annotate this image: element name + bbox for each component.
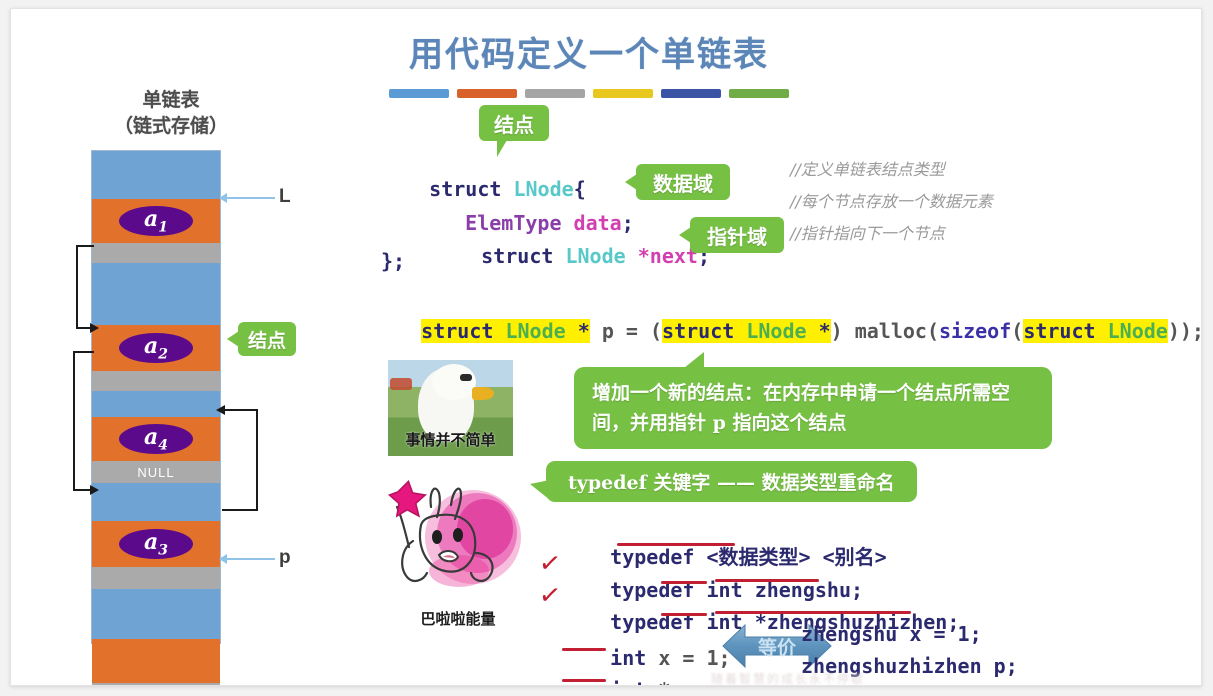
callout-node-diagram: 结点 xyxy=(238,322,296,356)
memory-block-data-a3: a3 xyxy=(92,521,220,567)
memory-block-pointer-a3 xyxy=(92,567,220,589)
node-label-a2: a2 xyxy=(144,335,168,361)
page-title: 用代码定义一个单链表 xyxy=(409,27,769,76)
memory-block-data-a1: a1 xyxy=(92,199,220,243)
callout-node-diagram-label: 结点 xyxy=(248,326,286,353)
memory-block-empty xyxy=(92,391,220,417)
red-check-2: ✓ xyxy=(537,580,563,613)
callout-data-field: 数据域 xyxy=(636,164,730,200)
node-label-a3: a3 xyxy=(144,531,168,557)
space xyxy=(1096,319,1108,343)
red-check-1: ✓ xyxy=(537,548,563,581)
callout-tail xyxy=(530,480,550,500)
code-comment-2: //每个节点存放一个数据元素 xyxy=(790,188,993,212)
callout-tail xyxy=(227,331,239,347)
slide-canvas: 用代码定义一个单链表 单链表 （链式存储） a1 a2 a4 xyxy=(10,8,1202,686)
node-value-ellipse: a2 xyxy=(119,333,193,363)
duck-meme-image: 事情并不简单 xyxy=(388,360,513,456)
node-index-3: 3 xyxy=(158,542,168,558)
callout-node-code-label: 结点 xyxy=(494,109,534,138)
node-label-a1: a1 xyxy=(144,208,168,234)
malloc-close: ) malloc( xyxy=(831,319,939,343)
keyword-struct: struct xyxy=(481,244,553,268)
memory-block-pointer-a1 xyxy=(92,243,220,263)
memory-block-empty xyxy=(92,483,220,521)
link-arrow-a3-head xyxy=(216,405,225,415)
p-pointer-line xyxy=(227,558,275,560)
space xyxy=(493,319,505,343)
red-underline-datatype xyxy=(617,543,735,546)
memory-block-new-pointer xyxy=(92,683,220,686)
space xyxy=(626,244,638,268)
red-underline-int-3 xyxy=(562,648,606,651)
diagram-heading-line1: 单链表 xyxy=(96,87,246,113)
code-malloc-line: struct LNode * p = (struct LNode *) mall… xyxy=(373,295,1202,367)
malloc-tail: )); xyxy=(1168,319,1202,343)
p-pointer-label: p xyxy=(279,547,291,569)
red-underline-alias-2 xyxy=(715,611,911,614)
callout-typedef-note: typedef 关键字 —— 数据类型重命名 xyxy=(546,461,917,502)
null-pointer-label: NULL xyxy=(92,461,220,483)
link-arrow-a1-top xyxy=(76,245,94,247)
node-label-a4: a4 xyxy=(144,426,168,452)
link-arrow-a3-vert xyxy=(256,409,258,511)
callout-typedef-note-label: typedef 关键字 —— 数据类型重命名 xyxy=(568,472,895,494)
node-index-2: 2 xyxy=(158,346,168,362)
title-bar-3 xyxy=(525,89,585,98)
title-bar-6 xyxy=(729,89,789,98)
memory-block-new-node xyxy=(92,639,220,683)
equiv-left-rest-2: *p; xyxy=(646,678,694,686)
callout-tail xyxy=(678,352,704,368)
memory-block-pointer-a2 xyxy=(92,371,220,391)
code-comment-3: //指针指向下一个节点 xyxy=(790,220,945,244)
type-lnode: LNode xyxy=(1108,319,1168,343)
keyword-struct: struct xyxy=(1023,319,1095,343)
duck-beak xyxy=(472,387,494,400)
head-pointer-line xyxy=(227,197,275,199)
link-arrow-a2-top xyxy=(73,351,94,353)
highlight-struct-lnode-2: struct LNode * xyxy=(662,319,831,343)
memory-block-pointer-a4: NULL xyxy=(92,461,220,483)
duck-eye xyxy=(460,374,472,381)
duck-head xyxy=(432,364,476,400)
red-underline-int-1 xyxy=(661,581,707,584)
title-bar-5 xyxy=(661,89,721,98)
pointer-star: * xyxy=(578,319,590,343)
code-struct-line3: struct LNode *next; xyxy=(433,220,710,292)
title-bar-1 xyxy=(389,89,449,98)
bunny-svg xyxy=(373,471,543,617)
red-underline-alias-1 xyxy=(715,579,819,582)
memory-block-empty xyxy=(92,263,220,325)
pointer-star: * xyxy=(819,319,831,343)
title-bar-4 xyxy=(593,89,653,98)
keyword-struct: struct xyxy=(662,319,734,343)
node-value-ellipse: a3 xyxy=(119,529,193,559)
type-lnode: LNode xyxy=(746,319,806,343)
diagram-heading: 单链表 （链式存储） xyxy=(96,87,246,139)
keyword-struct: struct xyxy=(421,319,493,343)
title-bar-2 xyxy=(457,89,517,98)
space xyxy=(553,244,565,268)
watermark-text: 随着智慧的成长永不停歇 xyxy=(711,670,865,686)
callout-node-code: 结点 xyxy=(479,105,549,141)
red-underline-int-4 xyxy=(562,679,606,682)
memory-block-data-a2: a2 xyxy=(92,325,220,371)
memory-block-empty xyxy=(92,589,220,639)
code-equiv-right-1: zhengshu x = 1; xyxy=(801,622,982,646)
p-pointer-arrowhead xyxy=(219,554,227,564)
space xyxy=(734,319,746,343)
link-arrow-a3-bottom xyxy=(222,509,258,511)
link-arrow-a2-head xyxy=(90,485,99,495)
head-pointer-arrowhead xyxy=(219,193,227,203)
callout-pointer-field: 指针域 xyxy=(690,217,784,253)
link-arrow-a3-top xyxy=(222,409,258,411)
highlight-struct-lnode-1: struct LNode * xyxy=(421,319,590,343)
code-comment-1: //定义单链表结点类型 xyxy=(790,156,945,180)
callout-tail xyxy=(625,174,637,190)
link-arrow-a2-vert xyxy=(73,351,75,491)
callout-pointer-field-label: 指针域 xyxy=(707,221,767,250)
keyword-sizeof: sizeof xyxy=(939,319,1011,343)
link-arrow-a1-vert xyxy=(76,245,78,329)
node-value-ellipse: a4 xyxy=(119,424,193,454)
magic-wand-star xyxy=(390,481,426,516)
paren-open: ( xyxy=(1011,319,1023,343)
memory-block-empty xyxy=(92,151,220,199)
callout-malloc-note-label: 增加一个新的结点：在内存中申请一个结点所需空间，并用指针 p 指向这个结点 xyxy=(592,382,1010,434)
ident-next: *next xyxy=(638,244,698,268)
duck-caption: 事情并不简单 xyxy=(388,429,513,450)
node-value-ellipse: a1 xyxy=(119,206,193,236)
callout-data-field-label: 数据域 xyxy=(653,168,713,197)
red-underline-int-2 xyxy=(661,613,707,616)
bunny-magic-drawing: 巴啦啦能量 xyxy=(373,471,543,631)
malloc-mid: p = ( xyxy=(590,319,662,343)
highlight-struct-lnode-3: struct LNode xyxy=(1023,319,1168,343)
memory-block-data-a4: a4 xyxy=(92,417,220,461)
type-int: int xyxy=(610,678,646,686)
title-decoration-bars xyxy=(389,89,789,98)
star xyxy=(566,319,578,343)
duck-cap xyxy=(390,378,412,390)
diagram-heading-line2: （链式存储） xyxy=(96,113,246,139)
node-index-4: 4 xyxy=(158,437,168,453)
head-pointer-label: L xyxy=(279,186,291,208)
type-lnode: LNode xyxy=(565,244,625,268)
callout-tail xyxy=(679,227,691,243)
bunny-caption: 巴啦啦能量 xyxy=(373,608,543,629)
node-index-1: 1 xyxy=(158,219,168,235)
type-lnode: LNode xyxy=(505,319,565,343)
link-arrow-a1-head xyxy=(90,323,99,333)
memory-column: a1 a2 a4 NULL a3 xyxy=(91,150,221,644)
code-struct-line4: }; xyxy=(381,249,405,273)
space xyxy=(807,319,819,343)
callout-malloc-note: 增加一个新的结点：在内存中申请一个结点所需空间，并用指针 p 指向这个结点 xyxy=(574,367,1052,449)
